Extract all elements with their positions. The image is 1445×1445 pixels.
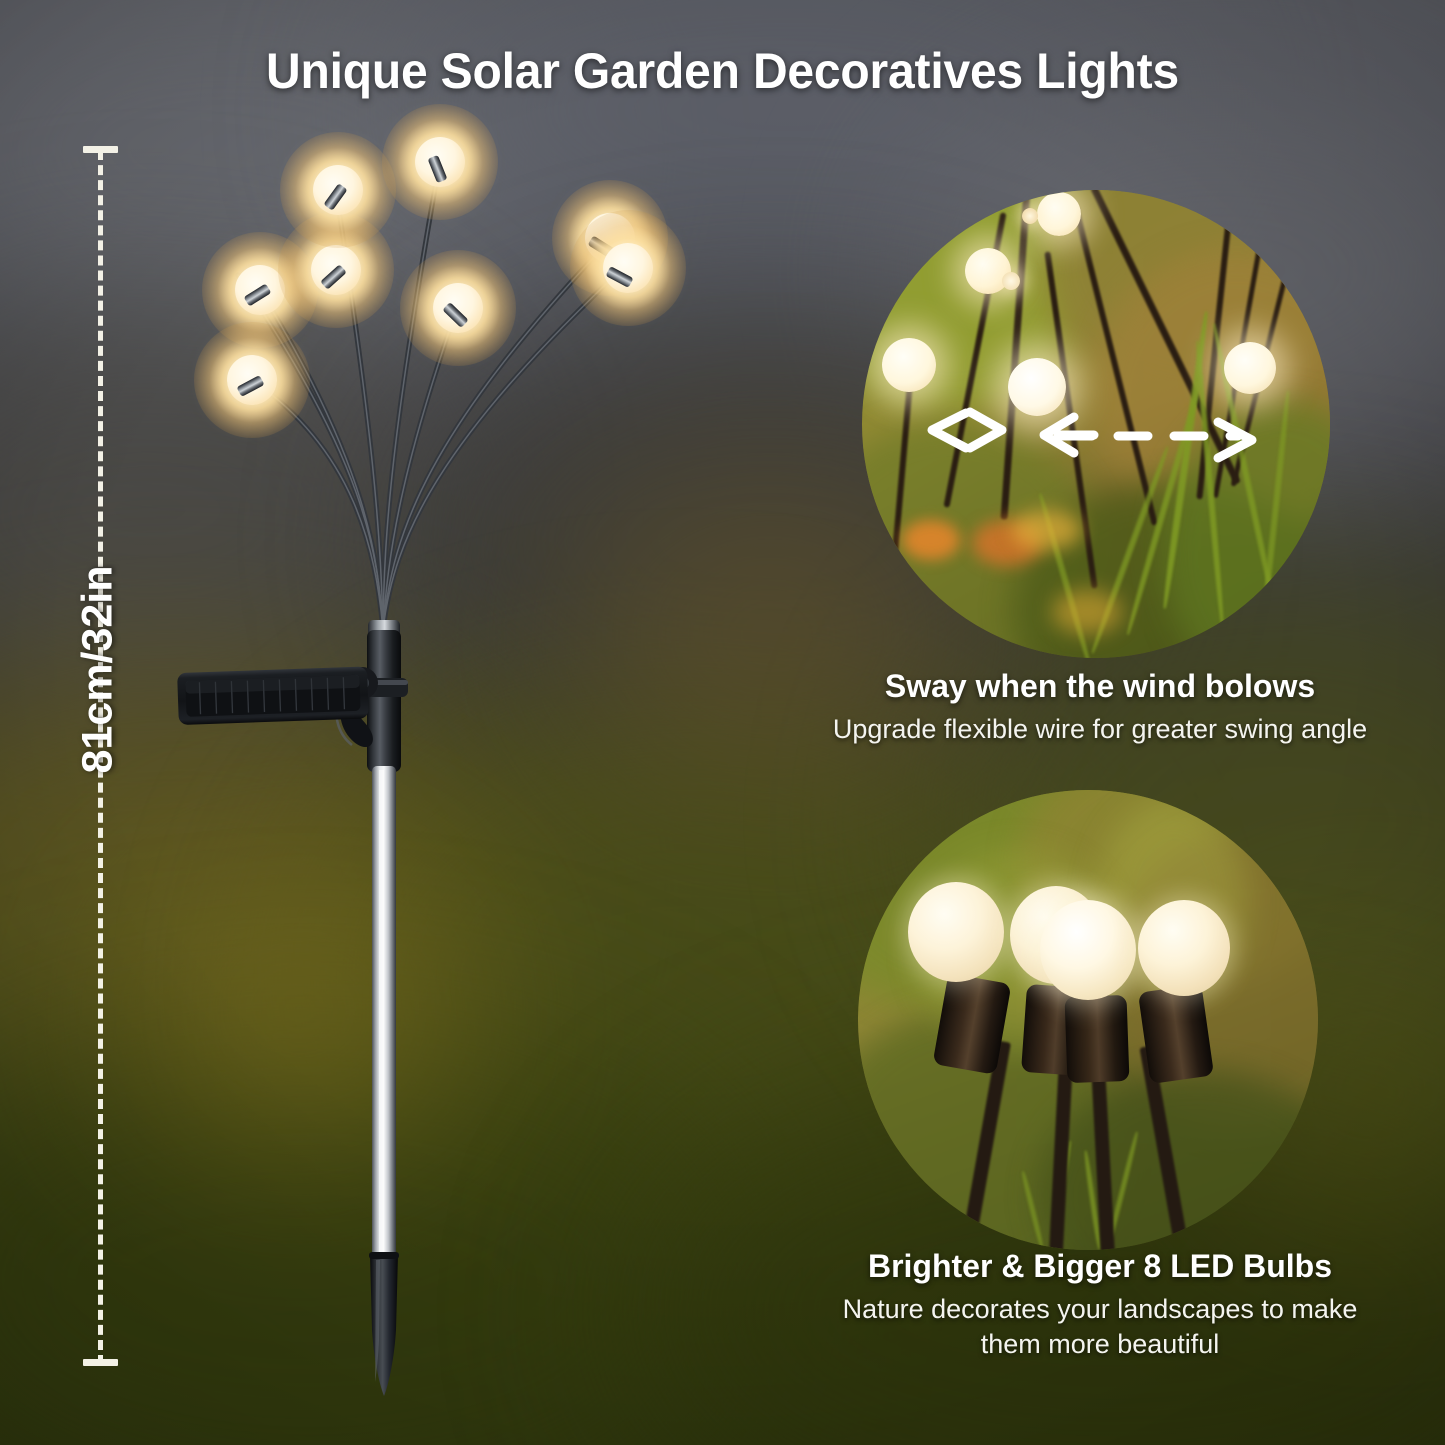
sway-arrows-overlay [862,190,1330,658]
arrow-left-head-icon [932,413,966,448]
bulb-socket-photo [1065,995,1130,1083]
feature-photo-bulbs [858,790,1318,1250]
ground-stake [370,1254,398,1396]
led-globe-photo [908,882,1004,982]
led-globe-photo [1040,900,1136,1000]
dimension-indicator: 81cm/32in [70,140,130,1372]
dimension-cap-bottom [83,1359,118,1366]
solar-panel [177,666,369,725]
feature-caption-bulbs: Brighter & Bigger 8 LED Bulbs Nature dec… [770,1248,1430,1362]
feature-subtext: Upgrade flexible wire for greater swing … [770,712,1430,747]
led-globe-photo [1138,900,1230,996]
page-title: Unique Solar Garden Decoratives Lights [29,42,1416,100]
feature-heading: Sway when the wind bolows [770,668,1430,705]
led-bulb [568,208,688,328]
arrow-right-head-icon [970,412,1002,448]
product-image [140,130,720,1420]
dimension-label: 81cm/32in [74,550,123,790]
feature-subtext: Nature decorates your landscapes to make [770,1292,1430,1327]
product-infographic-poster: Unique Solar Garden Decoratives Lights 8… [0,0,1445,1445]
feature-caption-sway: Sway when the wind bolows Upgrade flexib… [770,668,1430,747]
feature-photo-sway [862,190,1330,658]
feature-heading: Brighter & Bigger 8 LED Bulbs [770,1248,1430,1285]
feature-subtext-line2: them more beautiful [770,1327,1430,1362]
led-bulb [398,248,518,368]
bulb-socket-photo [1138,984,1214,1084]
pole-upper-housing [367,630,401,772]
